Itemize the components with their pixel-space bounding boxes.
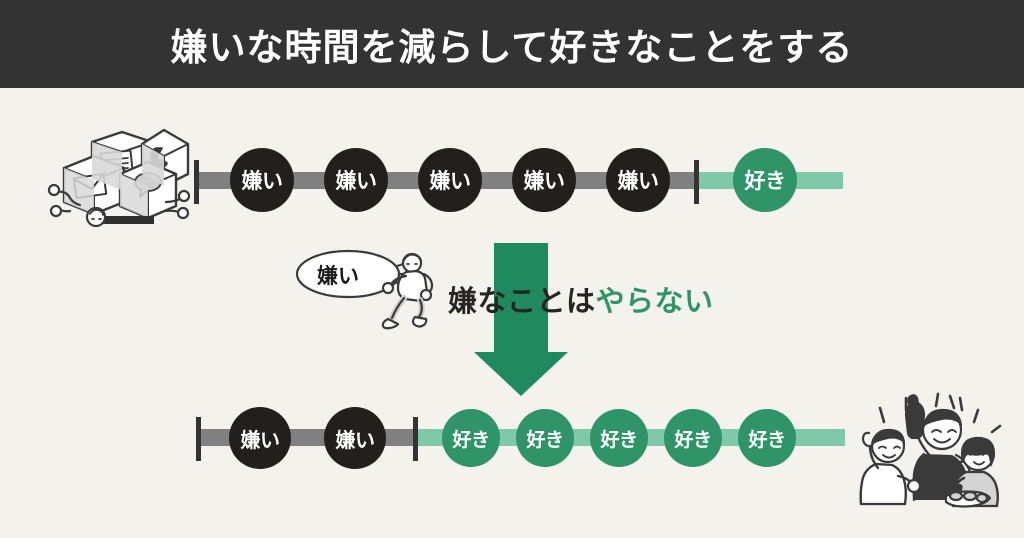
celebrating-people-illustration — [850, 392, 1014, 508]
after-node-like-4[interactable]: 好き — [664, 409, 722, 467]
middle-caption: 嫌なことはやらない — [448, 278, 714, 320]
before-divider-tick — [694, 160, 699, 204]
before-node-dislike-5[interactable]: 嫌い — [606, 148, 670, 212]
after-node-dislike-2[interactable]: 嫌い — [324, 407, 386, 469]
before-node-dislike-3[interactable]: 嫌い — [418, 148, 482, 212]
page-title: 嫌いな時間を減らして好きなことをする — [0, 0, 1024, 88]
after-node-like-2[interactable]: 好き — [516, 409, 574, 467]
speech-bubble-text: 嫌い — [317, 260, 359, 290]
slide-canvas: 嫌いな時間を減らして好きなことをする — [0, 0, 1024, 538]
before-node-like-1[interactable]: 好き — [733, 148, 797, 212]
person-crushed-by-boxes-illustration — [44, 124, 194, 228]
after-node-like-5[interactable]: 好き — [738, 409, 796, 467]
after-start-tick — [196, 417, 201, 461]
after-node-dislike-1[interactable]: 嫌い — [229, 407, 291, 469]
after-node-like-1[interactable]: 好き — [442, 409, 500, 467]
after-node-like-3[interactable]: 好き — [590, 409, 648, 467]
down-arrow-icon — [474, 352, 568, 396]
before-node-dislike-1[interactable]: 嫌い — [230, 148, 294, 212]
middle-caption-main: 嫌なことは — [448, 286, 596, 318]
after-divider-tick — [413, 417, 418, 461]
middle-caption-accent: やらない — [596, 286, 714, 318]
before-node-dislike-2[interactable]: 嫌い — [324, 148, 388, 212]
before-node-dislike-4[interactable]: 嫌い — [512, 148, 576, 212]
before-start-tick — [194, 160, 199, 204]
